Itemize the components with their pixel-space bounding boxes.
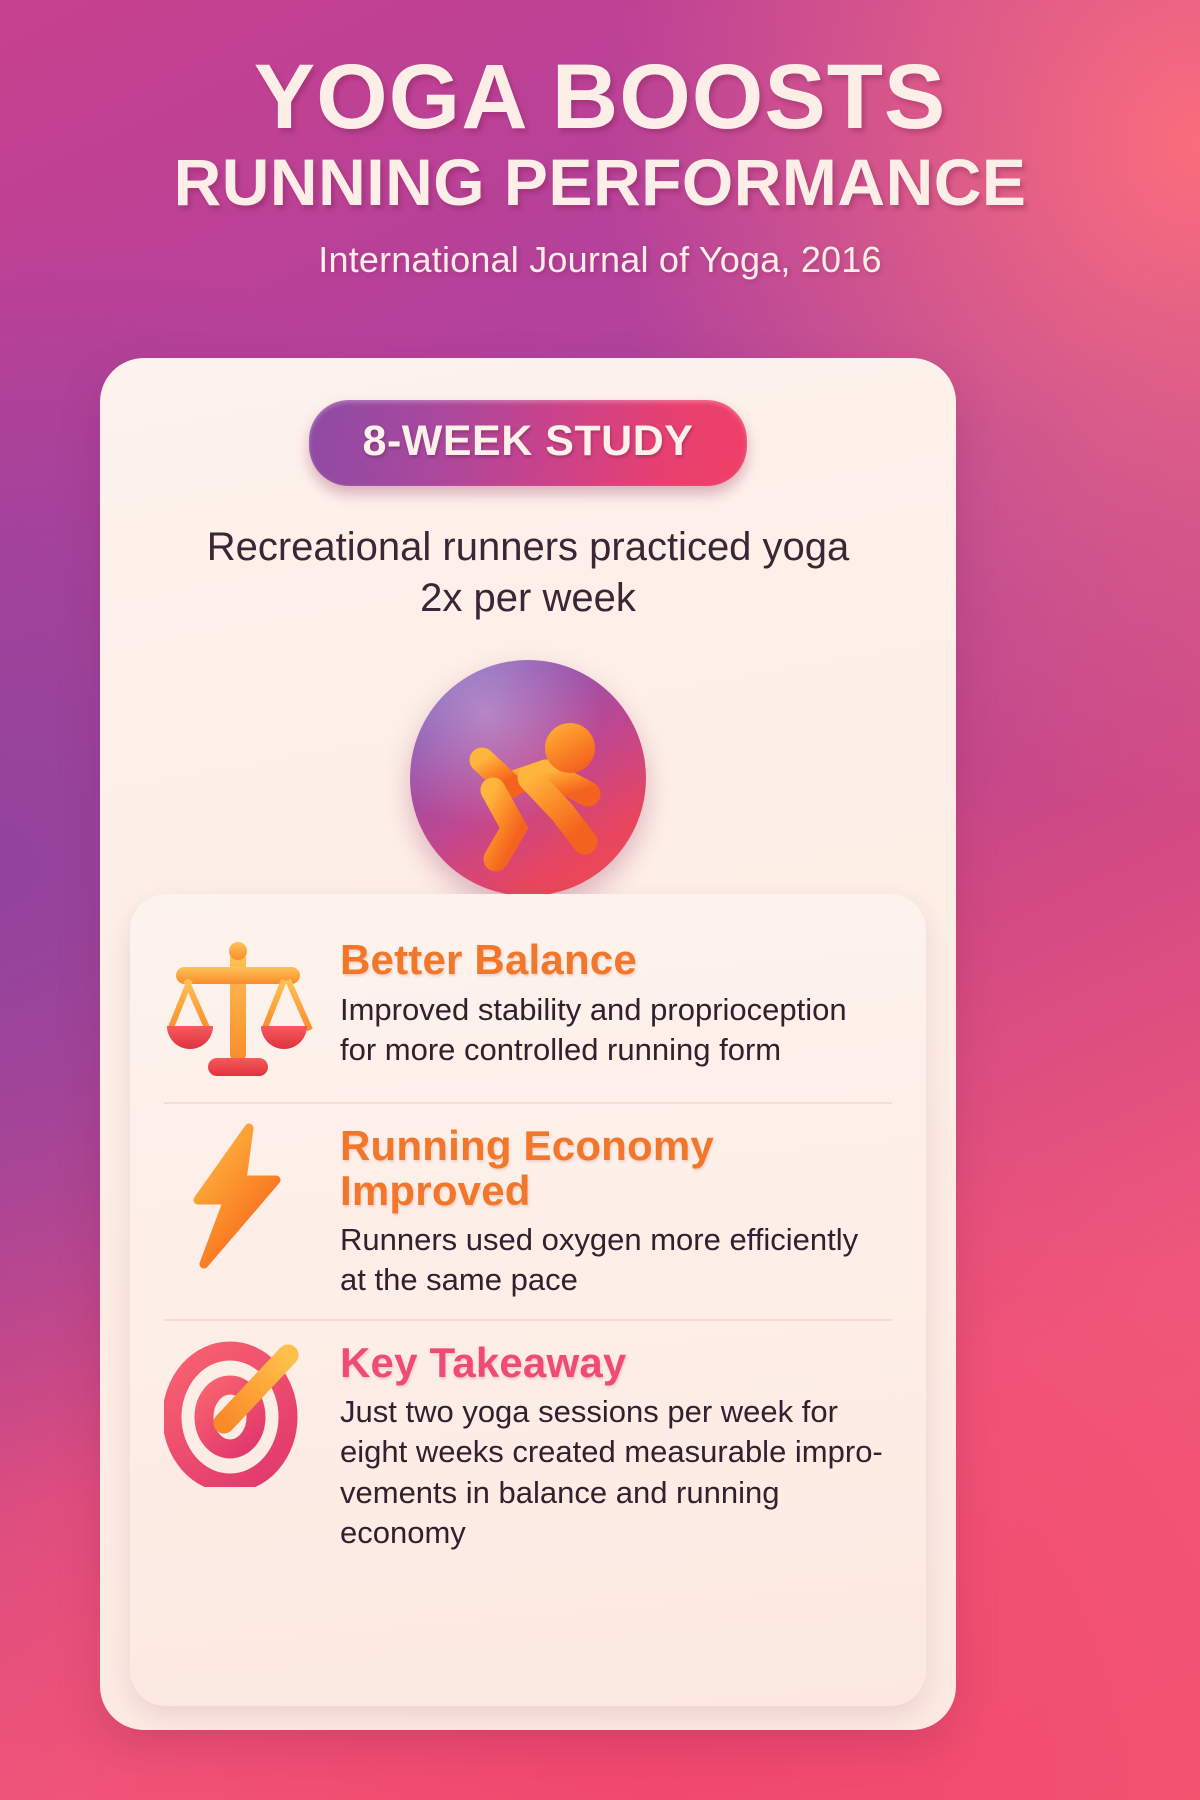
findings-list: Better Balance Improved stability and pr… bbox=[130, 894, 926, 1706]
study-card: 8-WEEK STUDY Recreational runners practi… bbox=[100, 358, 956, 1730]
runner-medallion bbox=[410, 660, 646, 896]
target-arrow-icon bbox=[164, 1337, 314, 1487]
target-arrow-icon-wrap bbox=[164, 1337, 314, 1487]
lightning-bolt-icon bbox=[164, 1120, 314, 1270]
list-item-body: Running Economy Improved Runners used ox… bbox=[340, 1120, 892, 1301]
page-title-line-1: YOGA BOOSTS bbox=[0, 52, 1200, 142]
finding-title: Better Balance bbox=[340, 938, 892, 983]
study-description: Recreational runners practiced yoga 2x p… bbox=[100, 522, 956, 624]
running-person-icon bbox=[410, 660, 646, 896]
lightning-bolt-icon-wrap bbox=[164, 1120, 314, 1270]
finding-description-line-3: vements in balance and running economy bbox=[340, 1473, 892, 1554]
finding-description: Just two yoga sessions per week for eigh… bbox=[340, 1392, 892, 1553]
finding-description-line-2: eight weeks created measurable impro- bbox=[340, 1432, 892, 1472]
list-item: Key Takeaway Just two yoga sessions per … bbox=[164, 1319, 892, 1572]
finding-description: Improved stability and proprioception fo… bbox=[340, 990, 892, 1071]
finding-description-line-2: at the same pace bbox=[340, 1260, 892, 1300]
list-item: Better Balance Improved stability and pr… bbox=[164, 918, 892, 1102]
medallion-container bbox=[100, 660, 956, 901]
finding-title: Running Economy Improved bbox=[340, 1124, 892, 1213]
page-subtitle: International Journal of Yoga, 2016 bbox=[0, 239, 1200, 281]
list-item-body: Key Takeaway Just two yoga sessions per … bbox=[340, 1337, 892, 1554]
study-description-line-2: 2x per week bbox=[100, 573, 956, 624]
badge-container: 8-WEEK STUDY bbox=[100, 400, 956, 486]
page-header: YOGA BOOSTS RUNNING PERFORMANCE Internat… bbox=[0, 0, 1200, 281]
finding-title: Key Takeaway bbox=[340, 1341, 892, 1386]
study-duration-badge: 8-WEEK STUDY bbox=[309, 400, 748, 486]
list-item: Running Economy Improved Runners used ox… bbox=[164, 1102, 892, 1319]
finding-description-line-1: Improved stability and proprioception bbox=[340, 990, 892, 1030]
balance-scale-icon-wrap bbox=[164, 934, 314, 1084]
page-title-line-2: RUNNING PERFORMANCE bbox=[0, 148, 1200, 217]
finding-description: Runners used oxygen more efficiently at … bbox=[340, 1220, 892, 1301]
finding-title-line-1: Running Economy bbox=[340, 1124, 892, 1169]
list-item-body: Better Balance Improved stability and pr… bbox=[340, 934, 892, 1070]
study-description-line-1: Recreational runners practiced yoga bbox=[100, 522, 956, 573]
finding-description-line-1: Runners used oxygen more efficiently bbox=[340, 1220, 892, 1260]
balance-scale-icon bbox=[164, 934, 314, 1084]
finding-description-line-1: Just two yoga sessions per week for bbox=[340, 1392, 892, 1432]
finding-description-line-2: for more controlled running form bbox=[340, 1030, 892, 1070]
finding-title-line-2: Improved bbox=[340, 1169, 892, 1214]
